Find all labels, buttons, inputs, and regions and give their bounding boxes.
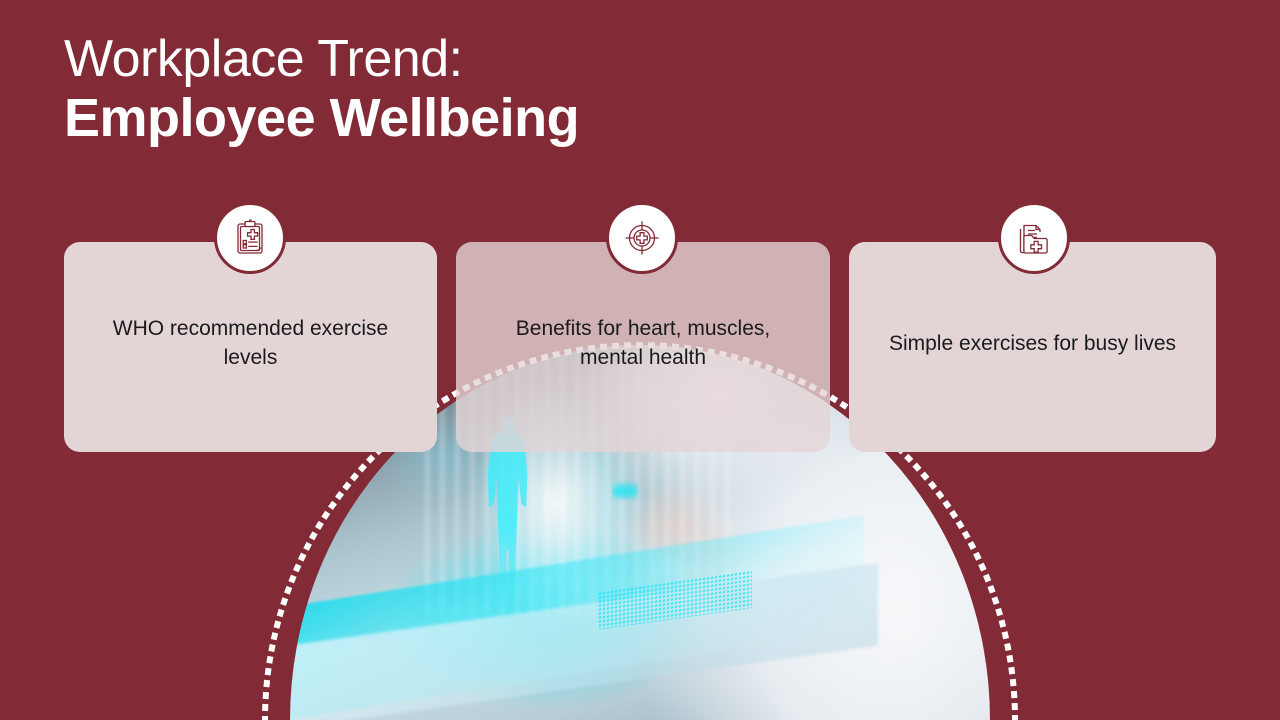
medical-clipboard-icon [230,218,270,258]
title-line-primary: Workplace Trend: [64,30,579,88]
icon-badge-2[interactable] [606,202,678,274]
slide-root: Workplace Trend: Employee Wellbeing WHO … [0,0,1280,720]
info-card-3-text: Simple exercises for busy lives [889,330,1176,359]
icon-badge-3[interactable] [998,202,1070,274]
info-card-1-text: WHO recommended exercise levels [90,315,411,373]
medical-target-icon [622,218,662,258]
icon-badge-1[interactable] [214,202,286,274]
title-line-secondary: Employee Wellbeing [64,88,579,148]
medical-folder-icon [1014,218,1054,258]
info-card-2-text: Benefits for heart, muscles, mental heal… [482,315,804,373]
page-title: Workplace Trend: Employee Wellbeing [64,30,579,149]
